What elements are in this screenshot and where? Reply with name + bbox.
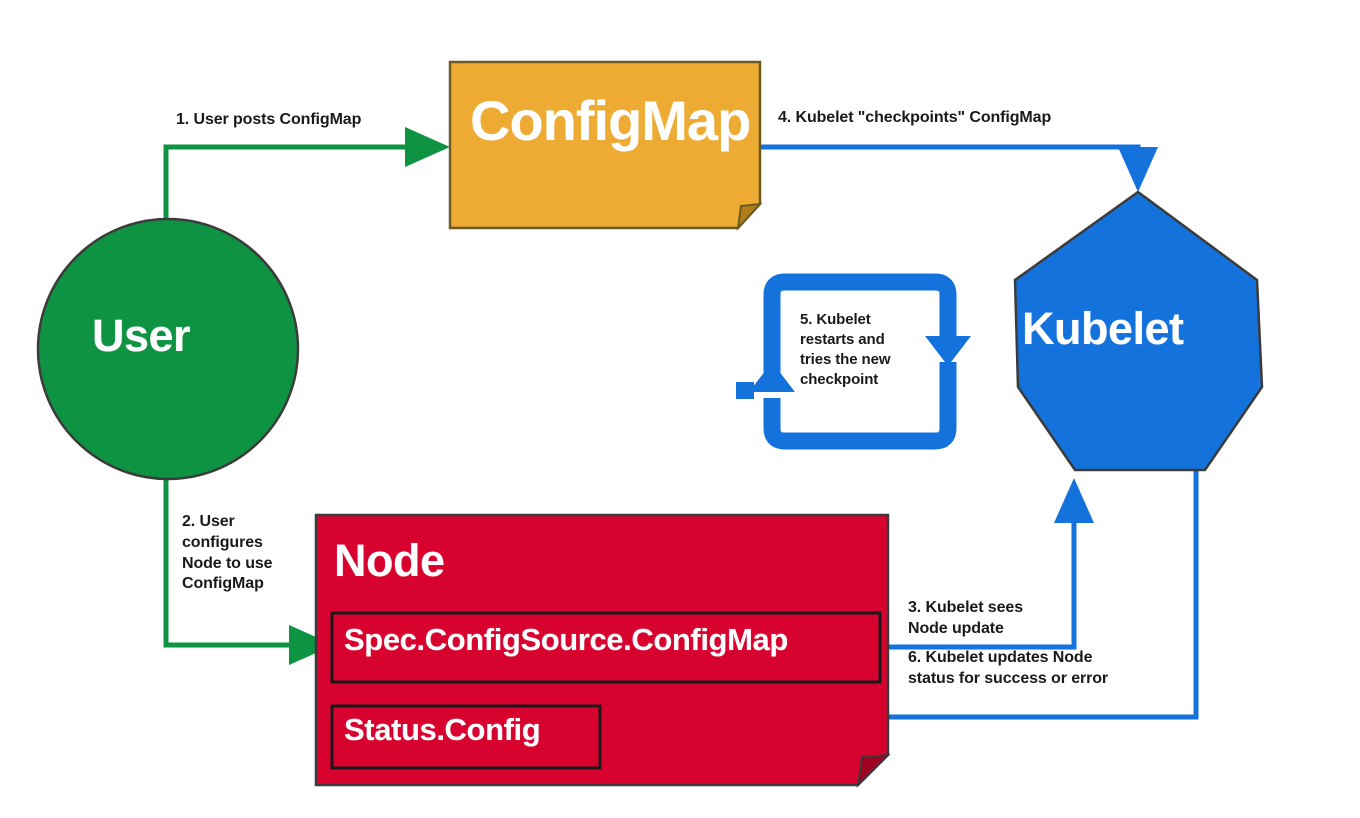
step-label-4: 4. Kubelet "checkpoints" ConfigMap [778,108,1051,129]
step-label-5: 5. Kubelet restarts and tries the new ch… [800,310,890,390]
step-label-1: 1. User posts ConfigMap [176,110,361,131]
connector-step-4 [760,147,1138,183]
configmap-shape[interactable] [450,62,760,228]
kubelet-shape[interactable] [1015,192,1262,470]
step-label-3: 3. Kubelet sees Node update [908,598,1023,640]
step-label-6: 6. Kubelet updates Node status for succe… [908,648,1108,690]
loop-down-arrow-icon [925,336,971,366]
node-shape[interactable] [316,515,888,785]
step-label-2: 2. User configures Node to use ConfigMap [182,512,272,595]
diagram-canvas: ConfigMap User Kubelet Node Spec.ConfigS… [0,0,1360,818]
user-shape[interactable] [38,219,298,479]
loop-up-arrow-icon [749,362,795,392]
